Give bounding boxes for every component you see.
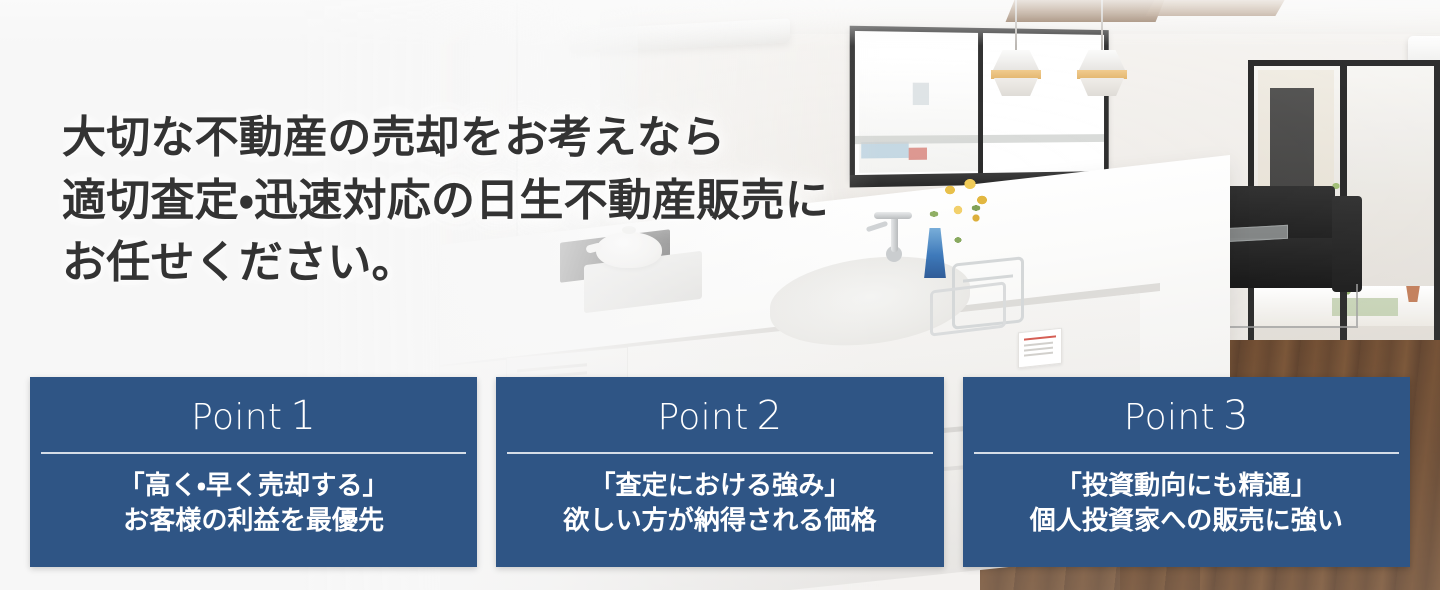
point-card-2-body-line-2: 欲しい方が納得される価格 bbox=[563, 503, 876, 538]
point-label: Point bbox=[1124, 397, 1215, 438]
point-card-3-body-line-2: 個人投資家への販売に強い bbox=[1030, 503, 1343, 538]
sale-promotion-banner: 大切な不動産の売却をお考えなら 適切査定・迅速対応の日生不動産販売に お任せくだ… bbox=[0, 0, 1440, 590]
point-card-1[interactable]: Point1 「高く・早く売却する」 お客様の利益を最優先 bbox=[30, 377, 477, 567]
lamp-shade-band bbox=[991, 70, 1041, 79]
lamp-shade-band bbox=[1077, 70, 1127, 79]
point-card-1-divider bbox=[41, 452, 466, 454]
info-card bbox=[1018, 328, 1062, 369]
headline: 大切な不動産の売却をお考えなら 適切査定・迅速対応の日生不動産販売に お任せくだ… bbox=[62, 107, 962, 294]
point-card-2-divider bbox=[507, 452, 932, 454]
pendant-lamp bbox=[986, 0, 1046, 100]
point-card-3-body-line-1: 「投資動向にも精通」 bbox=[1030, 468, 1343, 503]
lamp-shade-top bbox=[1078, 50, 1126, 72]
point-label: Point bbox=[191, 397, 282, 438]
headline-line-2: 適切査定・迅速対応の日生不動産販売に bbox=[62, 170, 962, 232]
point-card-2-title: Point2 bbox=[657, 396, 782, 436]
point-card-1-body: 「高く・早く売却する」 お客様の利益を最優先 bbox=[113, 468, 395, 539]
headline-line-1: 大切な不動産の売却をお考えなら bbox=[62, 107, 962, 169]
point-card-2-body-line-1: 「査定における強み」 bbox=[563, 468, 876, 503]
point-card-3-body: 「投資動向にも精通」 個人投資家への販売に強い bbox=[1024, 468, 1349, 539]
point-card-3-divider bbox=[974, 452, 1399, 454]
point-card-3[interactable]: Point3 「投資動向にも精通」 個人投資家への販売に強い bbox=[963, 377, 1410, 567]
point-number: 3 bbox=[1223, 393, 1249, 439]
pendant-lamp bbox=[1070, 0, 1134, 104]
point-card-2-body: 「査定における強み」 欲しい方が納得される価格 bbox=[557, 468, 882, 539]
point-card-1-body-line-2: お客様の利益を最優先 bbox=[119, 503, 389, 538]
point-card-1-body-line-1: 「高く・早く売却する」 bbox=[119, 468, 389, 503]
lamp-shade-bottom bbox=[994, 78, 1038, 96]
lamp-shade-top bbox=[992, 50, 1040, 72]
point-card-list: Point1 「高く・早く売却する」 お客様の利益を最優先 Point2 「査定… bbox=[30, 377, 1410, 567]
ceiling-beam-secondary bbox=[1145, 0, 1284, 16]
point-label: Point bbox=[657, 397, 748, 438]
lamp-shade-bottom bbox=[1080, 78, 1124, 96]
point-number: 2 bbox=[757, 393, 783, 439]
sofa-armrest bbox=[1332, 196, 1362, 292]
window-mullion bbox=[978, 33, 983, 173]
point-card-3-title: Point3 bbox=[1124, 396, 1249, 436]
point-card-1-title: Point1 bbox=[191, 396, 316, 436]
lamp-cord bbox=[1101, 0, 1103, 56]
headline-line-3: お任せください。 bbox=[62, 232, 962, 294]
point-number: 1 bbox=[290, 393, 316, 439]
point-card-2[interactable]: Point2 「査定における強み」 欲しい方が納得される価格 bbox=[496, 377, 943, 567]
lamp-cord bbox=[1015, 0, 1017, 56]
